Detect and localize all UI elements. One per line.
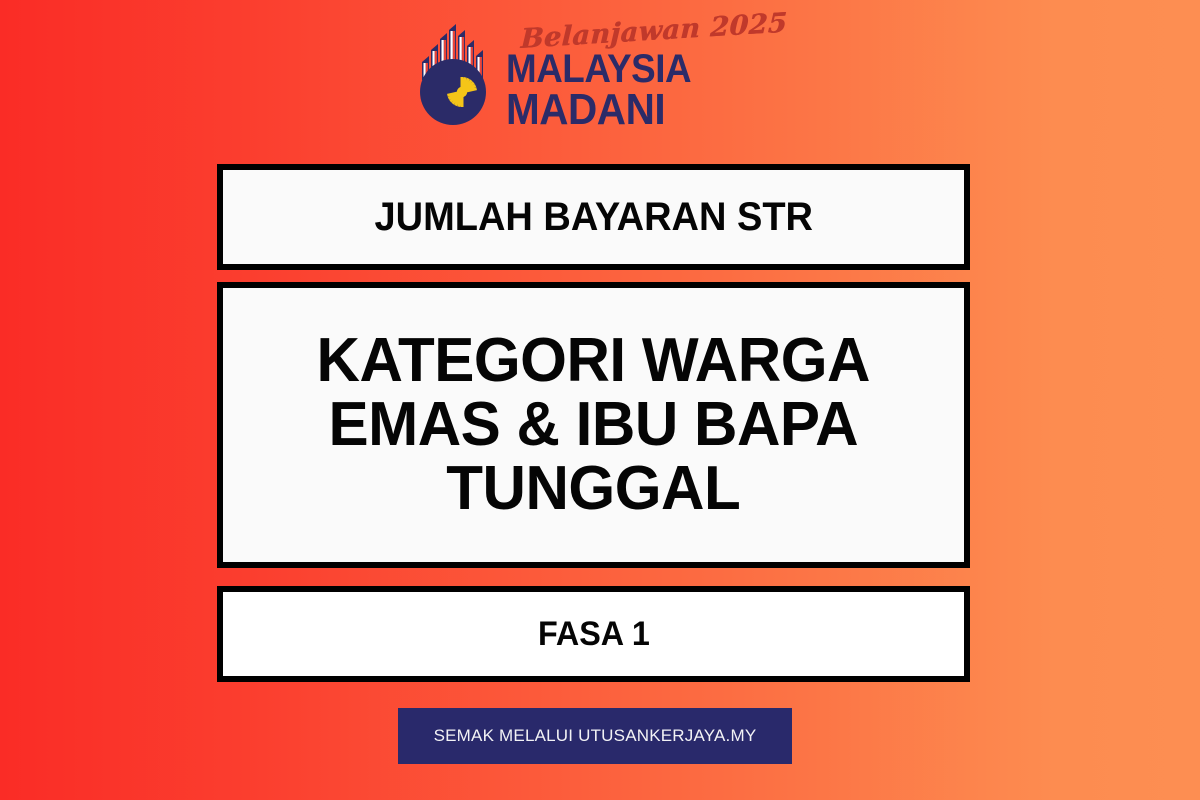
category-text-block: KATEGORI WARGA EMAS & IBU BAPA TUNGGAL	[294, 329, 893, 521]
phase-text: FASA 1	[538, 615, 650, 654]
panel-category: KATEGORI WARGA EMAS & IBU BAPA TUNGGAL	[217, 282, 970, 568]
logo-wordmark: Belanjawan 2025 MALAYSIA MADANI	[506, 22, 787, 130]
logo-malaysia-text: MALAYSIA	[506, 51, 691, 89]
malaysia-madani-emblem-icon	[412, 22, 496, 130]
category-line-2: EMAS & IBU BAPA	[303, 393, 884, 457]
logo-madani-text: MADANI	[506, 89, 665, 130]
panel-payment-title: JUMLAH BAYARAN STR	[217, 164, 970, 270]
malaysia-madani-logo: Belanjawan 2025 MALAYSIA MADANI	[0, 14, 1200, 138]
payment-title-text: JUMLAH BAYARAN STR	[374, 195, 812, 240]
footer-cta-text: SEMAK MELALUI UTUSANKERJAYA.MY	[434, 726, 757, 746]
panel-phase: FASA 1	[217, 586, 970, 682]
category-line-3: TUNGGAL	[303, 457, 884, 521]
footer-cta-banner[interactable]: SEMAK MELALUI UTUSANKERJAYA.MY	[398, 708, 792, 764]
category-line-1: KATEGORI WARGA	[303, 329, 884, 393]
